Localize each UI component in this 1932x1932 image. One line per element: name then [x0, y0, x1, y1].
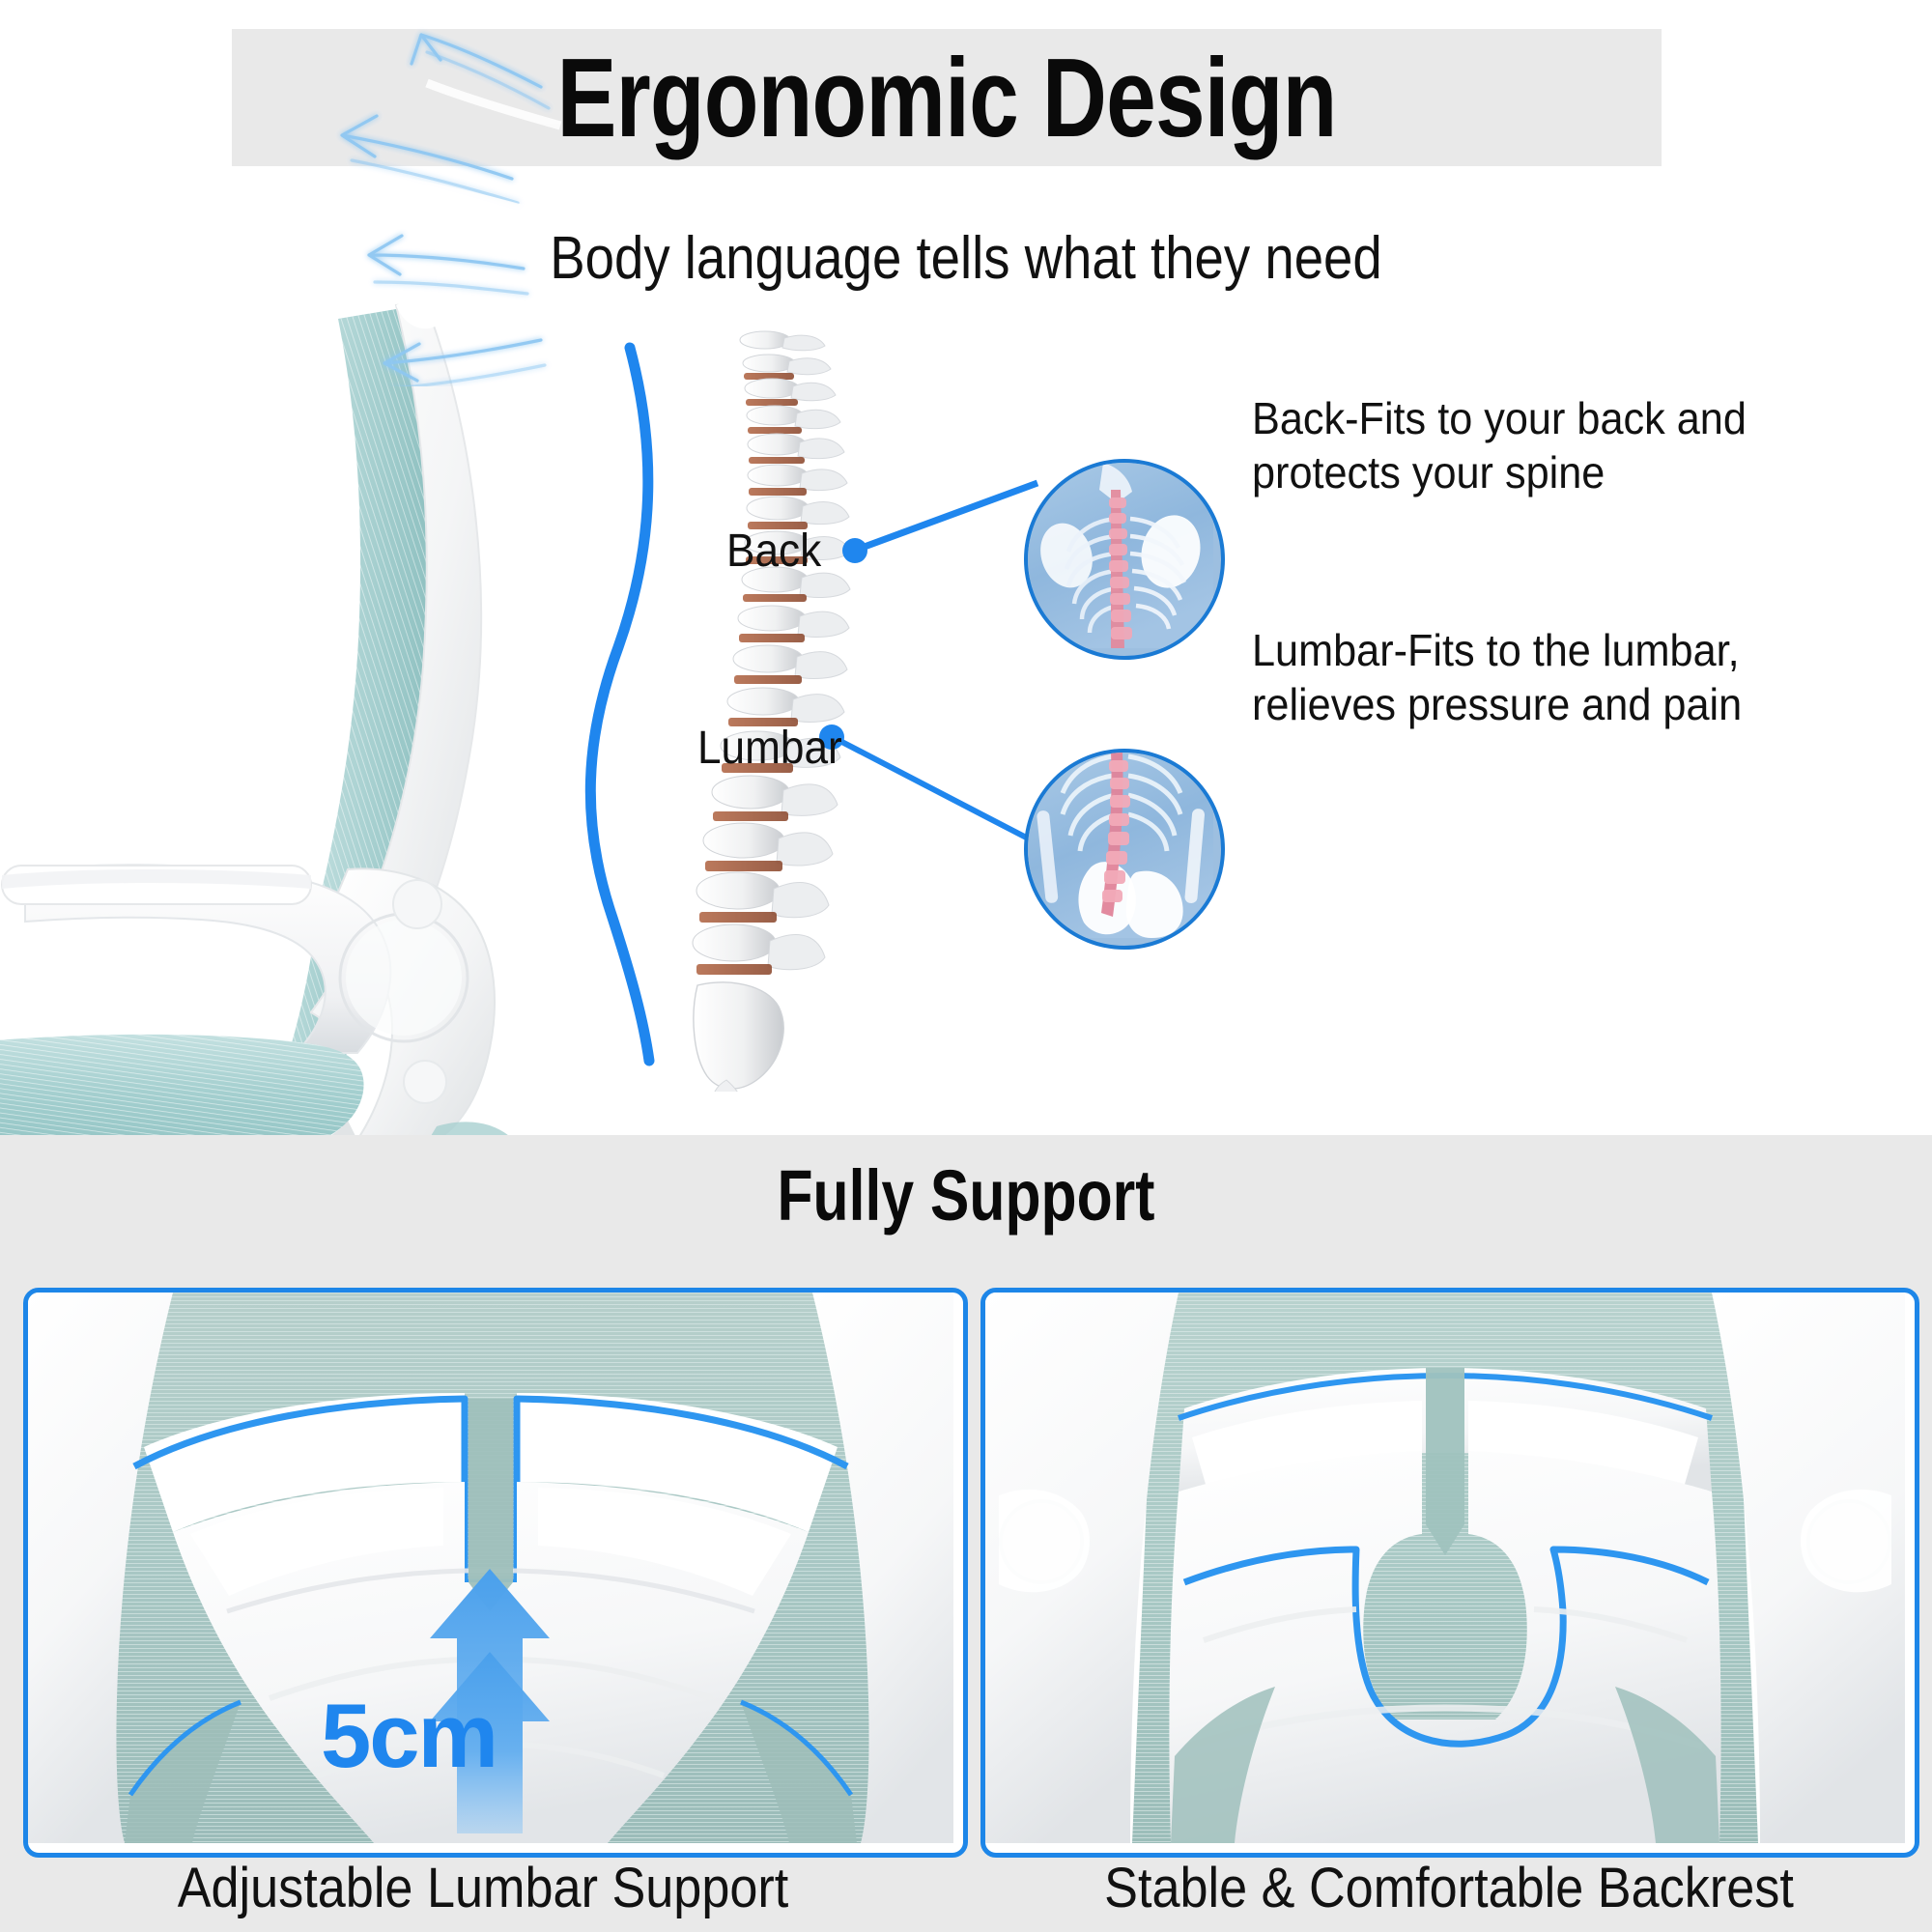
backrest-caption: Stable & Comfortable Backrest — [1014, 1856, 1884, 1920]
section-title: Fully Support — [174, 1154, 1758, 1236]
posture-curve-line — [590, 348, 649, 1061]
infographic-page: Ergonomic Design Body language tells wha… — [0, 0, 1932, 1932]
lumbar-callout-image — [1024, 749, 1225, 950]
fully-support-section: Fully Support — [0, 1135, 1932, 1932]
back-callout-image — [1024, 459, 1225, 660]
backrest-panel — [980, 1288, 1919, 1858]
vertebral-column — [693, 331, 850, 1092]
spine-label-lumbar: Lumbar — [697, 722, 842, 775]
spine-illustration — [560, 319, 947, 1092]
airflow-arrows-icon — [222, 19, 609, 386]
lumbar-callout-text: Lumbar-Fits to the lumbar, relieves pres… — [1252, 623, 1815, 731]
top-section: Ergonomic Design Body language tells wha… — [0, 0, 1932, 1135]
support-panels — [0, 1288, 1932, 1848]
lumbar-support-caption: Adjustable Lumbar Support — [48, 1856, 918, 1920]
measurement-label: 5cm — [321, 1684, 497, 1788]
ergonomic-chair-image — [0, 290, 638, 1135]
back-marker-dot — [842, 538, 867, 563]
back-callout-text: Back-Fits to your back and protects your… — [1252, 391, 1815, 499]
spine-label-back: Back — [726, 525, 821, 578]
